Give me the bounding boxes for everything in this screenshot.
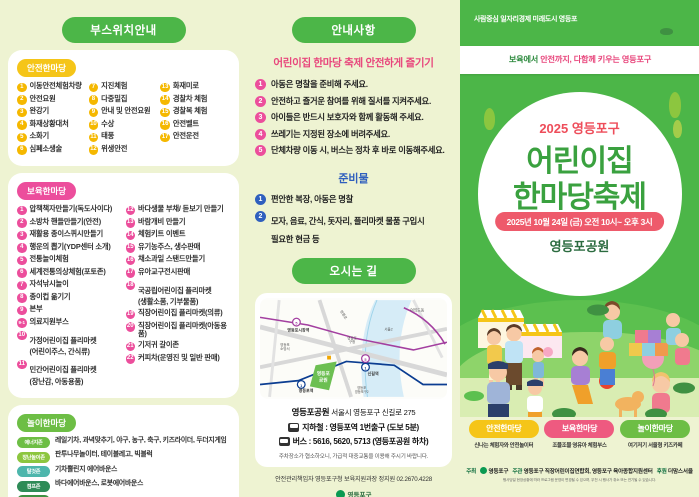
item-label: 안전요원 (30, 95, 56, 103)
item-sublabel: 필요한 현금 등 (271, 234, 319, 244)
svg-text:영등포역: 영등포역 (299, 387, 314, 393)
item-number: 12 (126, 206, 136, 216)
prep-heading: 준비물 (247, 170, 460, 186)
list-item: 10수상 (89, 120, 159, 130)
item-label: 화재상황대처 (30, 120, 69, 128)
item-label: 심폐소생술 (30, 145, 63, 153)
item-label: 수상 (101, 120, 114, 128)
booth-section-title: 부스위치안내 (62, 17, 186, 43)
item-label: 경찰차 체험 (173, 95, 207, 103)
safety-booth-tag: 안전한마당 (17, 59, 76, 77)
item-sublabel: (생활소품, 기부물품) (138, 298, 211, 306)
brand-tagline: 사람중심 일자리경제 미래도시 영등포 (474, 14, 577, 24)
badge-sublabel: 신나는 체험자와 안전놀이터 (467, 441, 541, 449)
item-number: 21 (126, 342, 136, 352)
item-number: 11 (17, 360, 27, 370)
booth-section-header: 부스위치안내 (0, 0, 247, 43)
list-item: 4쓰레기는 지정된 장소에 버려주세요. (255, 129, 452, 140)
zone-text: 레일기차, 과녁맞추기, 야구, 농구, 축구, 키즈라이더, 두더지게임 (55, 437, 227, 445)
item-number: 22 (126, 354, 136, 364)
item-label: 의료지원부스 (30, 318, 69, 326)
item-label: 안전운전 (173, 132, 199, 140)
list-item: 16채소과일 스탠드만들기 (126, 255, 231, 265)
list-item: 1편안한 복장, 아동은 명찰 (255, 194, 452, 205)
svg-text:여의도동: 여의도동 (410, 308, 425, 313)
support-name: 더맘스서울 (668, 469, 693, 475)
list-item: 18국공립어린이집 플리마켓(생활소품, 기부물품) (126, 280, 231, 307)
item-label: 체험키트 이벤트 (138, 230, 185, 238)
item-number: 13 (126, 218, 136, 228)
item-number: 2 (255, 211, 266, 222)
item-number: 2 (17, 218, 27, 228)
item-label: 다중밀집 (101, 95, 127, 103)
list-item: 4화재상황대처 (17, 120, 87, 130)
svg-text:신길역: 신길역 (368, 370, 379, 376)
childcare-booth-tag: 보육한마당 (17, 182, 76, 200)
item-label: 안전벨트 (173, 120, 199, 128)
list-item: 11태풍 (89, 132, 159, 142)
play-zone-row: 탈것존기차뿔린지 에어바운스 (17, 466, 230, 478)
list-item: 4행운의 뽑기(YDP센터 소개) (17, 243, 122, 253)
list-item: 14체험키트 이벤트 (126, 230, 231, 240)
parking-note: 주차장소가 협소하오니, 가급적 대중교통을 이용해 주시기 바랍니다. (264, 452, 443, 460)
bus-row: 버스 : 5616, 5620, 5713 (영등포공원 하차) (264, 436, 443, 447)
address-block: 영등포공원 서울시 영등포구 신길로 275 지하철 : 영등포역 1번출구 (… (260, 399, 447, 462)
item-number: 9-1 (17, 318, 27, 328)
item-label: 아이들은 반드시 보호자와 함께 활동해 주세요. (271, 112, 424, 122)
svg-text:소방서: 소방서 (280, 346, 290, 351)
sponsor-line: 주최 영등포구 주관 영등포구 직장어린이집연합회, 영등포구 육아종합지원센터… (460, 467, 699, 475)
list-item: 8종이컵 옮기기 (17, 293, 122, 303)
ribbon-text-green: 보육에서 (509, 55, 540, 64)
directions-section-title: 오시는 길 (292, 258, 416, 284)
item-number: 1 (255, 194, 266, 205)
list-item: 7지진체험 (89, 82, 159, 92)
list-item: 1아동은 명찰을 준비해 주세요. (255, 79, 452, 90)
title-line-2: 한마당축제 (460, 172, 699, 216)
item-label: 전통놀이체험 (30, 255, 69, 263)
item-number: 9 (89, 108, 99, 118)
event-venue: 영등포공원 (460, 236, 699, 255)
play-zone-row: 에너지존레일기차, 과녁맞추기, 야구, 농구, 축구, 키즈라이더, 두더지게… (17, 437, 230, 449)
badge-childcare: 보육한마당 조물조물 영유아 체험부스 (542, 418, 616, 449)
item-number: 7 (17, 281, 27, 291)
item-label: 국공립어린이집 플리마켓 (138, 286, 211, 295)
item-label: 민간어린이집 플리마켓 (30, 365, 97, 374)
item-number: 4 (255, 129, 266, 140)
venue-address: 영등포공원 서울시 영등포구 신길로 275 (264, 406, 443, 418)
list-item: 3재활용 종이스퀴시만들기 (17, 230, 122, 240)
item-label: 안내 및 안전요원 (101, 107, 150, 115)
item-label: 바람개비 만들기 (138, 218, 185, 226)
item-number: 17 (160, 133, 170, 143)
information-column: 안내사항 어린이집 한마당 축제 안전하게 즐기기 1아동은 명찰을 준비해 주… (247, 0, 460, 497)
sponsor-footer: 주최 영등포구 주관 영등포구 직장어린이집연합회, 영등포구 육아종합지원센터… (460, 467, 699, 483)
list-item: 10가정어린이집 플리마켓(어린이주스, 간식류) (17, 330, 122, 357)
list-item: 20직장어린이집 플리마켓(아동용품) (126, 322, 231, 339)
item-label: 행운의 뽑기(YDP센터 소개) (30, 243, 111, 251)
list-item: 12바다생물 부채/ 돋보기 만들기 (126, 205, 231, 215)
list-item: 9-1의료지원부스 (17, 318, 122, 328)
item-label: 종이컵 옮기기 (30, 293, 71, 301)
zone-text: 바다에어바운스, 로봇에어바운스 (55, 480, 143, 488)
list-item: 8다중밀집 (89, 95, 159, 105)
zone-tag: 탈것존 (17, 466, 50, 477)
list-item: 1이동안전체험차량 (17, 82, 87, 92)
list-item: 3완강기 (17, 107, 87, 117)
item-number: 6 (17, 145, 27, 155)
item-number: 1 (17, 206, 27, 216)
item-number: 2 (255, 96, 266, 107)
item-sublabel: (어린이주스, 간식류) (30, 348, 97, 356)
notice-section-header: 안내사항 (247, 0, 460, 43)
list-item: 14경찰차 체험 (160, 95, 230, 105)
childcare-booth-card: 보육한마당 1압책책자만들기(독도사이다) 2소방차 핸들만들기(안전) 3재활… (8, 173, 239, 398)
list-item: 2소방차 핸들만들기(안전) (17, 218, 122, 228)
badge-sublabel: 여기저기 서울형 키즈카페 (618, 441, 692, 449)
item-number: 6 (17, 268, 27, 278)
item-label: 안전하고 즐거운 참여를 위해 질서를 지켜주세요. (271, 96, 431, 106)
support-label: 후원 (657, 469, 667, 475)
item-number: 3 (17, 108, 27, 118)
item-label: 이동안전체험차량 (30, 82, 82, 90)
item-number: 10 (89, 120, 99, 130)
item-label: 채소과일 스탠드만들기 (138, 255, 205, 263)
zone-tag: 에너지존 (17, 437, 50, 448)
list-item: 21기저귀 갈이존 (126, 341, 231, 351)
item-number: 7 (89, 83, 99, 93)
item-label: 직장어린이집 플리마켓(의류) (138, 309, 222, 317)
festival-poster: 부스위치안내 안전한마당 1이동안전체험차량 2안전요원 3완강기 4화재상황대… (0, 0, 699, 497)
item-label: 지진체험 (101, 82, 127, 90)
item-label: 단체차량 이동 시, 버스는 정차 후 바로 이동해주세요. (271, 145, 445, 155)
bush-icon (660, 28, 673, 35)
item-label: 기저귀 갈이존 (138, 341, 179, 349)
tree-icon (669, 92, 681, 118)
host-label: 주최 (466, 469, 476, 475)
title-column: 사람중심 일자리경제 미래도시 영등포 보육에서 안전까지, 다함께 키우는 영… (460, 0, 699, 497)
item-label: 쓰레기는 지정된 장소에 버려주세요. (271, 129, 390, 139)
list-item: 3아이들은 반드시 보호자와 함께 활동해 주세요. (255, 112, 452, 123)
bus-info: 버스 : 5616, 5620, 5713 (영등포공원 하차) (293, 436, 429, 447)
safety-col-2: 7지진체험 8다중밀집 9안내 및 안전요원 10수상 11태풍 12위생안전 (89, 82, 159, 157)
item-number: 3 (17, 231, 27, 241)
play-zone-row: 점프존바다에어바운스, 로봇에어바운스 (17, 480, 230, 492)
map-svg: 영등포 공원 5 5 1 1 영등포시장역 영등포역 신길역 영등포 (260, 298, 447, 399)
item-label: 편안한 복장, 아동은 명찰 (271, 194, 353, 204)
notice-list: 1아동은 명찰을 준비해 주세요. 2안전하고 즐거운 참여를 위해 질서를 지… (247, 79, 460, 156)
item-label: 본부 (30, 305, 43, 313)
item-label: 모자, 음료, 간식, 돗자리, 플리마켓 물품 구입시 (271, 216, 424, 226)
safety-contact: 안전관리책임자 영등포구청 보육지원과장 정지원 02.2670.4228 (247, 474, 460, 483)
list-item: 5전통놀이체험 (17, 255, 122, 265)
category-badges: 안전한마당 신나는 체험자와 안전놀이터 보육한마당 조물조물 영유아 체험부스… (460, 418, 699, 449)
list-item: 9안내 및 안전요원 (89, 107, 159, 117)
item-label: 직장어린이집 플리마켓(아동용품) (138, 322, 230, 339)
item-label: 자석낚시놀이 (30, 280, 69, 288)
item-number: 15 (160, 108, 170, 118)
item-number: 15 (126, 243, 136, 253)
item-number: 4 (17, 120, 27, 130)
item-number: 8 (89, 95, 99, 105)
play-booth-tag: 놀이한마당 (17, 414, 76, 432)
list-item: 19직장어린이집 플리마켓(의류) (126, 309, 231, 319)
item-label: 완강기 (30, 107, 50, 115)
badge-sublabel: 조물조물 영유아 체험부스 (542, 441, 616, 449)
notice-section-title: 안내사항 (292, 17, 416, 43)
list-item: 7자석낚시놀이 (17, 280, 122, 290)
map-image[interactable]: 영등포 공원 5 5 1 1 영등포시장역 영등포역 신길역 영등포 (260, 298, 447, 399)
item-number: 1 (17, 83, 27, 93)
zone-text: 판투나무놀이터, 테이블레고, 빅블럭 (55, 451, 153, 459)
play-zone-row: 장난놀이존판투나무놀이터, 테이블레고, 빅블럭 (17, 451, 230, 463)
notice-heading: 어린이집 한마당 축제 안전하게 즐기기 (247, 55, 460, 70)
item-number: 12 (89, 145, 99, 155)
item-number: 14 (160, 95, 170, 105)
list-item: 22커피차(운영진 및 일반 판매) (126, 354, 231, 364)
zone-tag: 장난놀이존 (17, 452, 50, 463)
list-item: 15유기농주스, 생수판매 (126, 243, 231, 253)
list-item: 13바람개비 만들기 (126, 218, 231, 228)
bus-icon (279, 437, 290, 446)
sponsor-fine-print: 행사당일 현장상황에 따라 프로그램 운영이 변경될 수 있으며, 우천 시 행… (460, 478, 699, 483)
people-illustration (460, 296, 699, 426)
list-item: 2모자, 음료, 간식, 돗자리, 플리마켓 물품 구입시필요한 현금 등 (255, 211, 452, 247)
item-number: 18 (126, 281, 136, 291)
list-item: 6심폐소생술 (17, 145, 87, 155)
subway-row: 지하철 : 영등포역 1번출구 (도보 5분) (264, 422, 443, 433)
item-number: 16 (160, 120, 170, 130)
event-date-badge: 2025년 10월 24일 (금) 오전 10시~ 오후 3시 (495, 212, 665, 231)
list-item: 1압책책자만들기(독도사이다) (17, 205, 122, 215)
list-item: 5단체차량 이동 시, 버스는 정차 후 바로 이동해주세요. (255, 145, 452, 156)
badge-safety: 안전한마당 신나는 체험자와 안전놀이터 (467, 418, 541, 449)
item-label: 경찰복 체험 (173, 107, 207, 115)
item-number: 11 (89, 133, 99, 143)
list-item: 5소화기 (17, 132, 87, 142)
badge-label: 안전한마당 (469, 420, 539, 438)
list-item: 12위생안전 (89, 145, 159, 155)
list-item: 9본부 (17, 305, 122, 315)
list-item: 6세계전통의상체험(포토존) (17, 268, 122, 278)
list-item: 15경찰복 체험 (160, 107, 230, 117)
item-number: 2 (17, 95, 27, 105)
item-number: 9 (17, 306, 27, 316)
item-label: 소화기 (30, 132, 50, 140)
svg-text:영등포구2: 영등포구2 (355, 389, 369, 394)
booth-location-column: 부스위치안내 안전한마당 1이동안전체험차량 2안전요원 3완강기 4화재상황대… (0, 0, 247, 497)
venue-address-detail: 서울시 영등포구 신길로 275 (331, 408, 415, 417)
ribbon-text: 보육에서 안전까지, 다함께 키우는 영등포구 (460, 53, 699, 65)
zone-text: 기차뿔린지 에어바운스 (55, 466, 117, 474)
childcare-col-1: 1압책책자만들기(독도사이다) 2소방차 핸들만들기(안전) 3재활용 종이스퀴… (17, 205, 122, 389)
title-year: 2025 영등포구 (460, 118, 699, 137)
badge-play: 놀이한마당 여기저기 서울형 키즈카페 (618, 418, 692, 449)
item-sublabel: (장난감, 아동용품) (30, 378, 97, 386)
district-logo-icon (480, 467, 487, 474)
item-label: 세계전통의상체험(포토존) (30, 268, 106, 276)
item-label: 유아교구전시판매 (138, 268, 190, 276)
item-label: 가정어린이집 플리마켓 (30, 336, 97, 345)
svg-text:구청: 구청 (349, 339, 355, 344)
safety-col-3: 13화재미로 14경찰차 체험 15경찰복 체험 16안전벨트 17안전운전 (160, 82, 230, 157)
badge-label: 놀이한마당 (620, 420, 690, 438)
item-number: 10 (17, 331, 27, 341)
item-label: 커피차(운영진 및 일반 판매) (138, 354, 220, 362)
ribbon-text-pink: 안전까지, 다함께 키우는 영등포구 (540, 55, 651, 64)
item-number: 5 (255, 145, 266, 156)
list-item: 13화재미로 (160, 82, 230, 92)
directions-section-header: 오시는 길 (247, 252, 460, 284)
item-number: 14 (126, 231, 136, 241)
svg-text:공원: 공원 (319, 377, 328, 384)
subway-icon (288, 423, 299, 432)
svg-text:영등포시장역: 영등포시장역 (287, 327, 309, 333)
item-number: 16 (126, 256, 136, 266)
zone-tag: 점프존 (17, 481, 50, 492)
venue-name: 영등포공원 (292, 407, 330, 417)
badge-label: 보육한마당 (544, 420, 614, 438)
safety-booth-card: 안전한마당 1이동안전체험차량 2안전요원 3완강기 4화재상황대처 5소화기 … (8, 50, 239, 166)
list-item: 2안전요원 (17, 95, 87, 105)
item-number: 4 (17, 243, 27, 253)
item-label: 압책책자만들기(독도사이다) (30, 205, 113, 213)
item-number: 3 (255, 112, 266, 123)
item-number: 20 (126, 322, 136, 332)
list-item: 16안전벨트 (160, 120, 230, 130)
item-label: 위생안전 (101, 145, 127, 153)
list-item: 17유아교구전시판매 (126, 268, 231, 278)
svg-text:서울2: 서울2 (384, 327, 392, 332)
host-name: 영등포구 (489, 469, 509, 475)
item-number: 19 (126, 310, 136, 320)
item-number: 13 (160, 83, 170, 93)
list-item: 17안전운전 (160, 132, 230, 142)
organizer-label: 주관 (512, 469, 522, 475)
district-logo-icon (336, 490, 345, 497)
item-label: 바다생물 부채/ 돋보기 만들기 (138, 205, 223, 213)
item-label: 유기농주스, 생수판매 (138, 243, 200, 251)
district-logo-label: 영등포구 (348, 489, 372, 497)
ribbon-banner: 보육에서 안전까지, 다함께 키우는 영등포구 (460, 46, 699, 74)
svg-text:영등포: 영등포 (317, 370, 331, 377)
item-label: 태풍 (101, 132, 114, 140)
item-label: 재활용 종이스퀴시만들기 (30, 230, 103, 238)
item-number: 5 (17, 133, 27, 143)
item-number: 17 (126, 268, 136, 278)
item-label: 화재미로 (173, 82, 199, 90)
item-label: 소방차 핸들만들기(안전) (30, 218, 101, 226)
item-number: 8 (17, 293, 27, 303)
item-number: 1 (255, 79, 266, 90)
item-number: 5 (17, 256, 27, 266)
list-item: 2안전하고 즐거운 참여를 위해 질서를 지켜주세요. (255, 96, 452, 107)
play-booth-card: 놀이한마당 에너지존레일기차, 과녁맞추기, 야구, 농구, 축구, 키즈라이더… (8, 405, 239, 497)
list-item: 11민간어린이집 플리마켓(장난감, 아동용품) (17, 359, 122, 386)
subway-info: 지하철 : 영등포역 1번출구 (도보 5분) (302, 422, 419, 433)
location-map-card: 영등포 공원 5 5 1 1 영등포시장역 영등포역 신길역 영등포 (255, 293, 452, 467)
childcare-col-2: 12바다생물 부채/ 돋보기 만들기 13바람개비 만들기 14체험키트 이벤트… (126, 205, 231, 389)
item-label: 아동은 명찰을 준비해 주세요. (271, 79, 368, 89)
organizer-name: 영등포구 직장어린이집연합회, 영등포구 육아종합지원센터 (524, 469, 653, 475)
district-logo: 영등포구 (247, 489, 460, 497)
safety-col-1: 1이동안전체험차량 2안전요원 3완강기 4화재상황대처 5소화기 6심폐소생술 (17, 82, 87, 157)
prep-list: 1편안한 복장, 아동은 명찰 2모자, 음료, 간식, 돗자리, 플리마켓 물… (247, 194, 460, 247)
